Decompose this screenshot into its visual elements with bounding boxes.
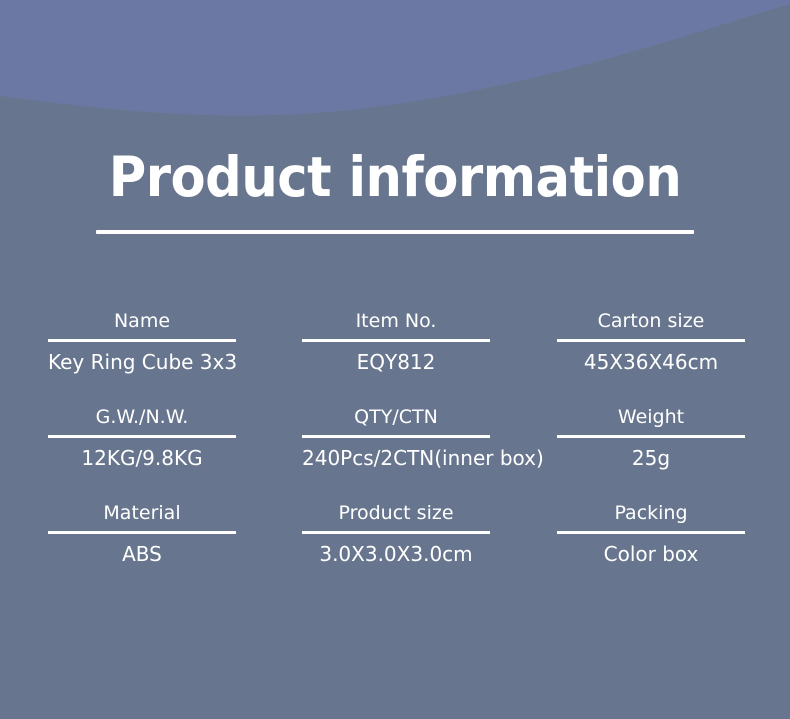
page-title: Product information — [28, 146, 763, 208]
spec-value: Color box — [557, 540, 745, 568]
spec-divider — [48, 339, 236, 342]
curve-shape — [0, 0, 790, 116]
spec-cell-material: Material ABS — [48, 500, 236, 568]
spec-value: ABS — [48, 540, 236, 568]
spec-cell-gw-nw: G.W./N.W. 12KG/9.8KG — [48, 404, 236, 472]
spec-label: Material — [48, 500, 236, 526]
spec-label: G.W./N.W. — [48, 404, 236, 430]
spec-divider — [557, 435, 745, 438]
spec-label: QTY/CTN — [302, 404, 490, 430]
spec-value: Key Ring Cube 3x3 — [48, 348, 236, 376]
spec-value: 3.0X3.0X3.0cm — [302, 540, 490, 568]
table-row: Material ABS Product size 3.0X3.0X3.0cm … — [0, 500, 790, 568]
spec-divider — [557, 339, 745, 342]
spec-value: 25g — [557, 444, 745, 472]
spec-label: Weight — [557, 404, 745, 430]
spec-divider — [48, 531, 236, 534]
spec-cell-carton-size: Carton size 45X36X46cm — [557, 308, 745, 376]
spec-value: EQY812 — [302, 348, 490, 376]
spec-label: Item No. — [302, 308, 490, 334]
spec-label: Packing — [557, 500, 745, 526]
spec-cell-name: Name Key Ring Cube 3x3 — [48, 308, 236, 376]
table-row: Name Key Ring Cube 3x3 Item No. EQY812 C… — [0, 308, 790, 376]
spec-cell-product-size: Product size 3.0X3.0X3.0cm — [302, 500, 490, 568]
spec-table: Name Key Ring Cube 3x3 Item No. EQY812 C… — [0, 308, 790, 596]
top-curve-decoration — [0, 0, 790, 140]
spec-value: 240Pcs/2CTN(inner box) — [302, 444, 490, 472]
spec-divider — [302, 531, 490, 534]
product-information-page: Product information Name Key Ring Cube 3… — [0, 0, 790, 719]
spec-value: 12KG/9.8KG — [48, 444, 236, 472]
spec-label: Name — [48, 308, 236, 334]
spec-cell-packing: Packing Color box — [557, 500, 745, 568]
title-block: Product information — [0, 146, 790, 234]
spec-divider — [48, 435, 236, 438]
table-row: G.W./N.W. 12KG/9.8KG QTY/CTN 240Pcs/2CTN… — [0, 404, 790, 472]
spec-divider — [557, 531, 745, 534]
spec-divider — [302, 339, 490, 342]
spec-cell-qty-ctn: QTY/CTN 240Pcs/2CTN(inner box) — [302, 404, 490, 472]
title-underline — [96, 230, 694, 234]
spec-label: Carton size — [557, 308, 745, 334]
spec-cell-weight: Weight 25g — [557, 404, 745, 472]
spec-cell-item-no: Item No. EQY812 — [302, 308, 490, 376]
spec-label: Product size — [302, 500, 490, 526]
spec-value: 45X36X46cm — [557, 348, 745, 376]
spec-divider — [302, 435, 490, 438]
